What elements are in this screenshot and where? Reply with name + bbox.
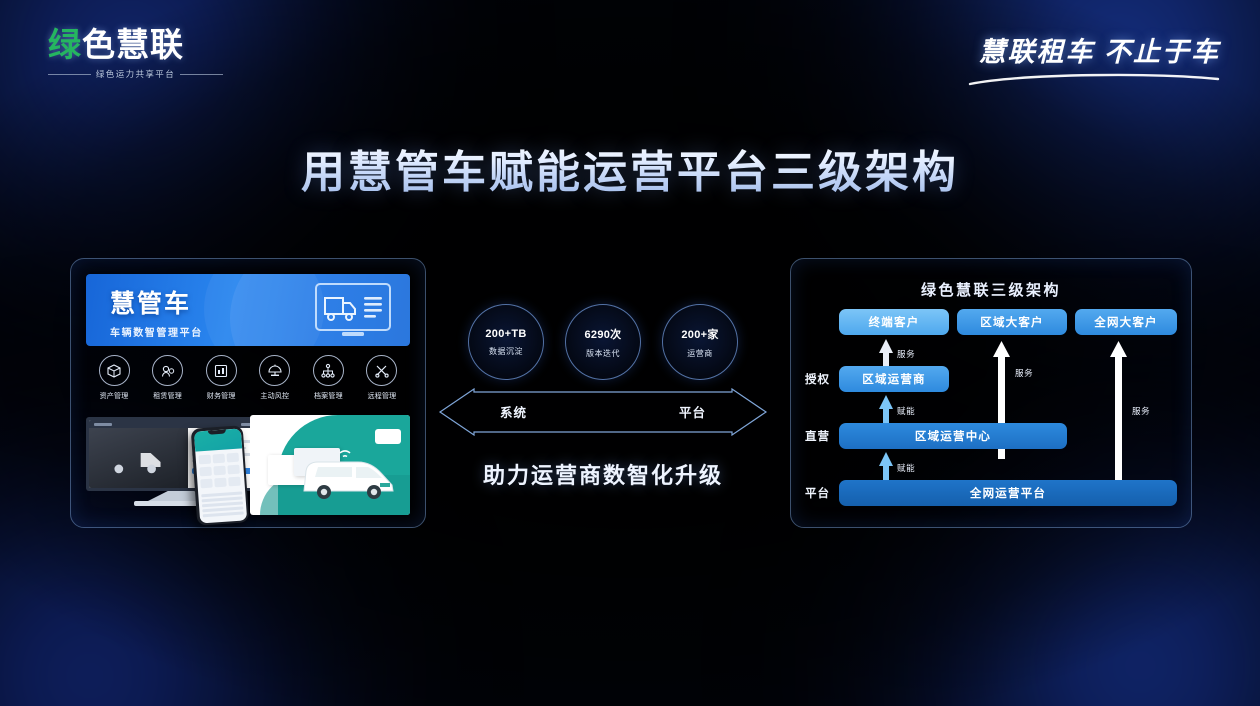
slogan-underline-swoosh — [968, 72, 1220, 86]
banner-swirl-2 — [204, 274, 324, 346]
brand-logo-char-green: 绿 — [48, 26, 82, 63]
electric-van-icon — [296, 447, 402, 505]
brand-logo: 绿色慧联 绿色运力共享平台 — [48, 28, 223, 80]
product-banner-title: 慧管车 — [110, 284, 203, 320]
feature-finance-management[interactable]: 财务管理 — [197, 355, 245, 407]
left-product-panel: 慧管车 车辆数智管理平台 — [70, 258, 426, 528]
feature-label: 资产管理 — [100, 391, 129, 401]
truck-monitor-icon — [314, 282, 392, 340]
arrow-label-service-terminal: 服务 — [897, 348, 915, 360]
tier-box-regional-center[interactable]: 区域运营中心 — [839, 423, 1067, 449]
tier-row-label-platform: 平台 — [805, 485, 839, 501]
customer-box-label: 全网大客户 — [1094, 314, 1158, 330]
tier-box-label: 区域运营商 — [862, 371, 926, 387]
tier-box-national-platform[interactable]: 全网运营平台 — [839, 480, 1177, 506]
logo-rule-left — [48, 74, 91, 75]
stat-value: 200+TB — [485, 328, 526, 340]
logo-rule-right — [180, 74, 223, 75]
product-banner-subtitle: 车辆数智管理平台 — [110, 324, 203, 339]
ledger-chart-icon — [206, 355, 237, 386]
brand-slogan-text: 慧联租车 不止于车 — [968, 30, 1220, 69]
feature-label: 档案管理 — [314, 391, 343, 401]
empower-arrow-direct — [879, 452, 893, 482]
feature-lease-management[interactable]: 租赁管理 — [144, 355, 192, 407]
van-illustration — [250, 415, 410, 515]
device-showcase — [86, 413, 410, 512]
stat-label: 版本迭代 — [586, 348, 620, 359]
corner-br — [1181, 517, 1192, 528]
service-arrow-national — [1110, 341, 1127, 503]
arrow-right-label: 平台 — [679, 402, 706, 421]
brand-logo-char-rest: 色慧联 — [82, 26, 184, 63]
stat-circle: 6290次 版本迭代 — [565, 304, 641, 380]
feature-label: 租赁管理 — [153, 391, 182, 401]
illustration-bubble — [375, 429, 401, 444]
tier-box-label: 全网运营平台 — [970, 485, 1046, 501]
cube-box-icon — [99, 355, 130, 386]
arrow-left-label: 系统 — [500, 402, 527, 421]
arrow-label-service-regional: 服务 — [1015, 367, 1033, 379]
middle-caption: 助力运营商数智化升级 — [438, 458, 768, 490]
page-title: 用慧管车赋能运营平台三级架构 — [0, 136, 1260, 200]
feature-label: 财务管理 — [207, 391, 236, 401]
handshake-key-icon — [152, 355, 183, 386]
right-architecture-panel: 绿色慧联三级架构 — [790, 258, 1192, 528]
corner-tr — [1181, 258, 1192, 269]
arrow-label-empower-direct: 赋能 — [897, 462, 915, 474]
feature-label: 主动风控 — [260, 391, 289, 401]
corner-tl — [790, 258, 801, 269]
shield-umbrella-icon — [259, 355, 290, 386]
bidirectional-arrow: 系统 平台 — [438, 388, 768, 436]
arrow-label-empower-authorized: 赋能 — [897, 405, 915, 417]
tier-row-label-direct: 直营 — [805, 428, 839, 444]
tier-row-label-authorized: 授权 — [805, 371, 839, 387]
tier-box-regional-operator[interactable]: 区域运营商 — [839, 366, 949, 392]
org-tree-icon — [313, 355, 344, 386]
architecture-diagram: 终端客户 区域大客户 全网大客户 服务 赋能 赋能 服务 服务 授权 区域运营商… — [805, 309, 1177, 513]
architecture-title: 绿色慧联三级架构 — [791, 279, 1191, 300]
stat-circles: 200+TB 数据沉淀 6290次 版本迭代 200+家 运营商 — [468, 304, 738, 378]
corner-bl — [70, 517, 81, 528]
corner-bl — [790, 517, 801, 528]
phone-app-grid — [195, 448, 245, 492]
feature-archive-management[interactable]: 档案管理 — [304, 355, 352, 407]
feature-icon-row: 资产管理 租赁管理 财务管理 — [86, 355, 410, 407]
brand-slogan: 慧联租车 不止于车 — [968, 30, 1220, 91]
brand-logo-subtitle-text: 绿色运力共享平台 — [96, 68, 175, 80]
monitor-vehicle-photo — [89, 428, 188, 488]
corner-tl — [70, 258, 81, 269]
customer-box-label: 区域大客户 — [980, 314, 1044, 330]
brand-logo-text: 绿色慧联 — [48, 28, 223, 61]
feature-risk-control[interactable]: 主动风控 — [251, 355, 299, 407]
stat-value: 6290次 — [585, 326, 622, 342]
corner-br — [415, 517, 426, 528]
stat-circle: 200+家 运营商 — [662, 304, 738, 380]
smartphone — [191, 425, 250, 525]
stat-circle: 200+TB 数据沉淀 — [468, 304, 544, 380]
feature-asset-management[interactable]: 资产管理 — [90, 355, 138, 407]
customer-box-national[interactable]: 全网大客户 — [1075, 309, 1177, 335]
stat-label: 运营商 — [687, 348, 713, 359]
customer-box-terminal[interactable]: 终端客户 — [839, 309, 949, 335]
corner-tr — [415, 258, 426, 269]
stat-value: 200+家 — [681, 326, 718, 342]
feature-label: 远程管理 — [368, 391, 397, 401]
stat-label: 数据沉淀 — [489, 346, 523, 357]
arrow-label-service-national: 服务 — [1132, 405, 1150, 417]
remote-tools-icon — [366, 355, 397, 386]
brand-logo-subtitle: 绿色运力共享平台 — [48, 68, 223, 80]
customer-box-regional[interactable]: 区域大客户 — [957, 309, 1067, 335]
service-arrow-terminal — [879, 339, 893, 369]
empower-arrow-authorized — [879, 395, 893, 425]
product-banner: 慧管车 车辆数智管理平台 — [86, 274, 410, 346]
tier-box-label: 区域运营中心 — [915, 428, 991, 444]
customer-box-label: 终端客户 — [869, 314, 920, 330]
desktop-monitor — [86, 417, 276, 491]
feature-remote-management[interactable]: 远程管理 — [358, 355, 406, 407]
